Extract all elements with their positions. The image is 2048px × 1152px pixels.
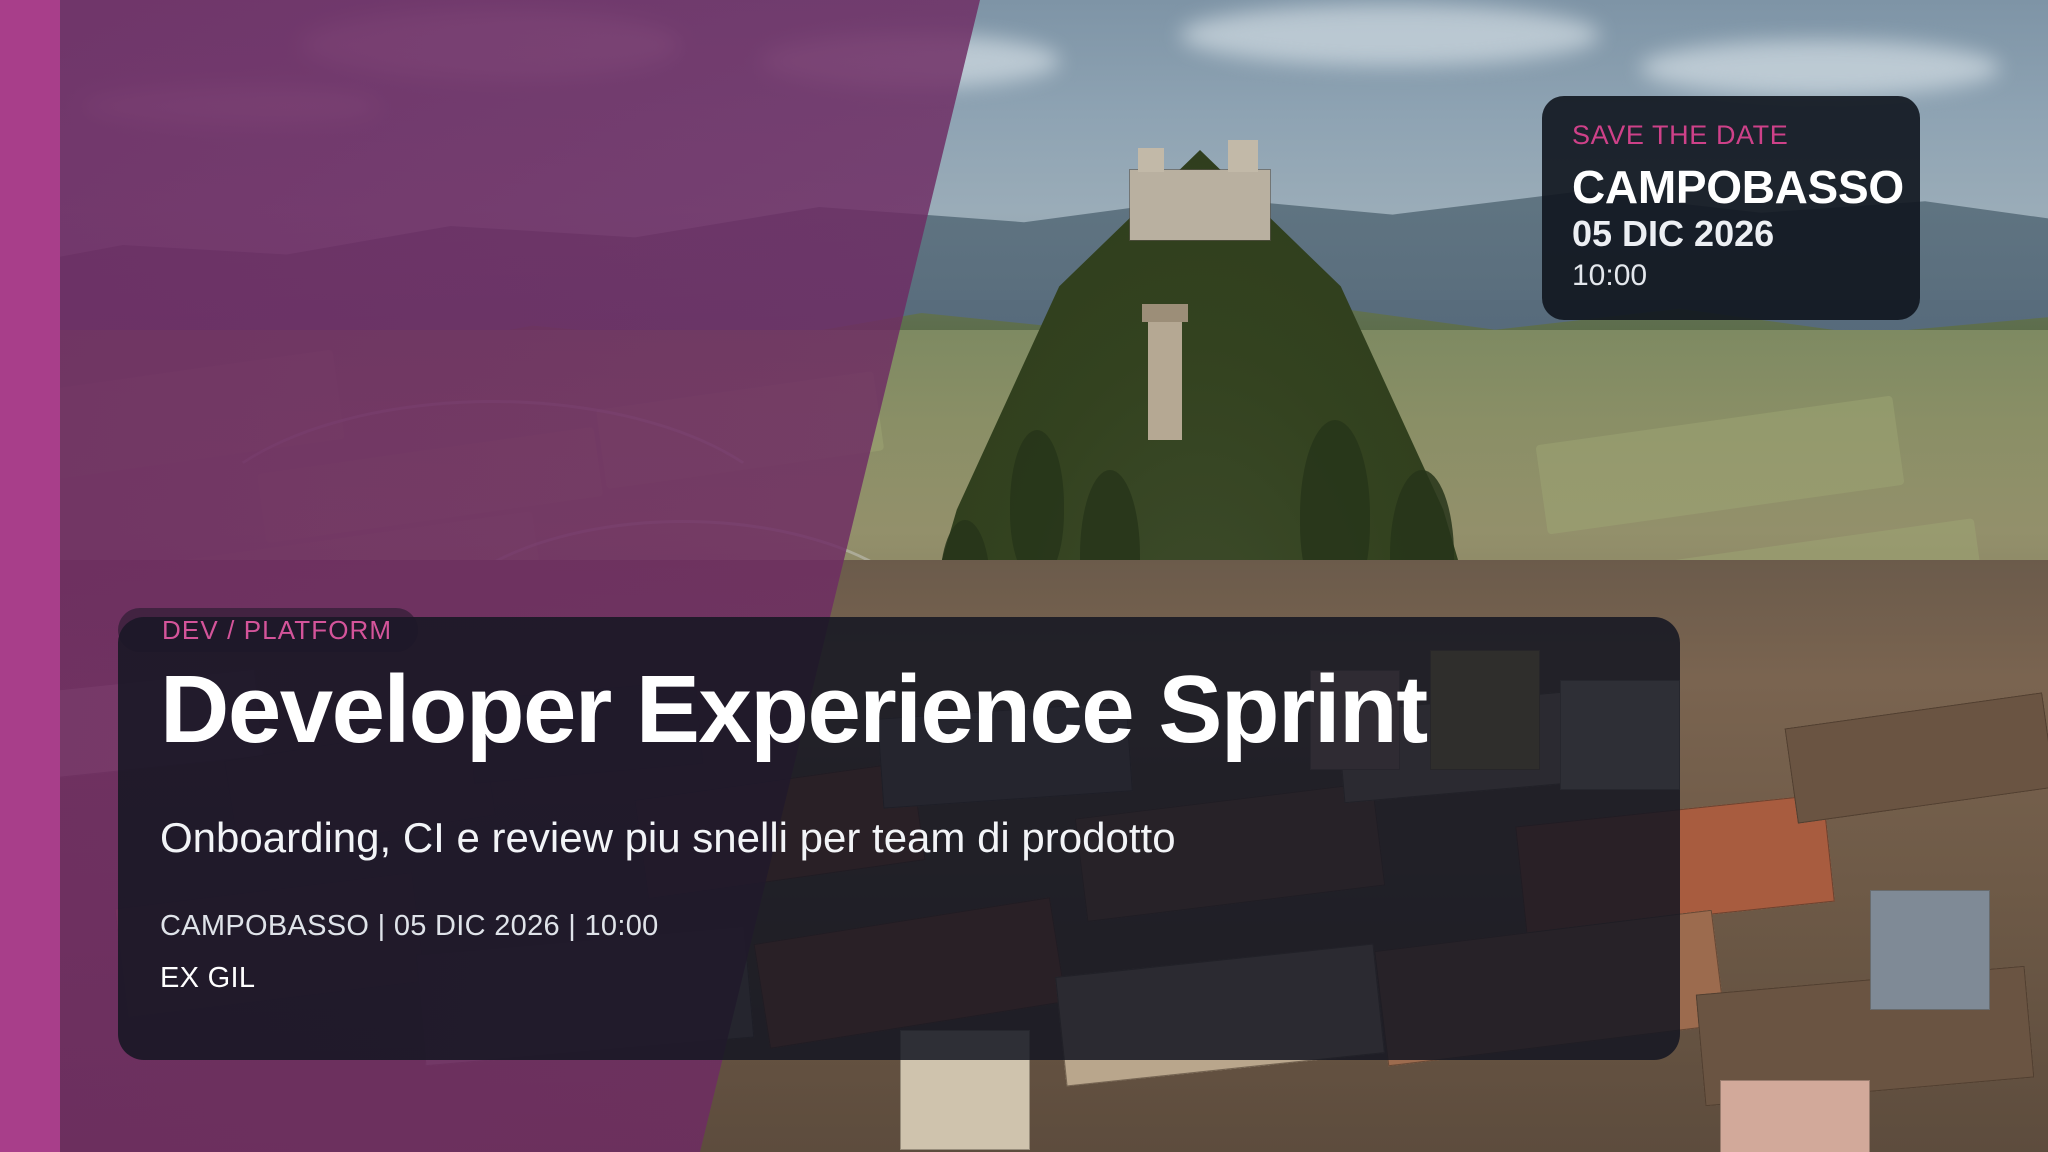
roof	[1785, 692, 2048, 823]
event-venue: EX GIL	[160, 960, 1580, 998]
category-kicker-pill: DEV / PLATFORM	[118, 608, 418, 652]
badge-time-label: 10:00	[1572, 256, 1890, 295]
field	[1535, 395, 1904, 534]
cloud	[1640, 40, 2000, 96]
event-poster: SAVE THE DATE CAMPOBASSO 05 DIC 2026 10:…	[0, 0, 2048, 1152]
badge-kicker-label: SAVE THE DATE	[1572, 122, 1890, 149]
event-card-content: Developer Experience Sprint Onboarding, …	[160, 660, 1580, 998]
hilltop-castle	[1130, 170, 1270, 240]
left-accent-stripe	[0, 0, 60, 1152]
building-wall	[1870, 890, 1990, 1010]
tree	[1010, 430, 1064, 580]
badge-city-label: CAMPOBASSO	[1572, 163, 1890, 211]
building-wall	[1720, 1080, 1870, 1152]
badge-date-label: 05 DIC 2026	[1572, 211, 1890, 256]
event-meta: CAMPOBASSO | 05 DIC 2026 | 10:00	[160, 908, 1580, 946]
save-the-date-badge: SAVE THE DATE CAMPOBASSO 05 DIC 2026 10:…	[1542, 96, 1920, 320]
event-title: Developer Experience Sprint	[160, 660, 1580, 760]
cloud	[1180, 4, 1600, 66]
category-kicker-label: DEV / PLATFORM	[162, 617, 392, 643]
event-subtitle: Onboarding, CI e review piu snelli per t…	[160, 812, 1580, 865]
church-tower	[1148, 320, 1182, 440]
